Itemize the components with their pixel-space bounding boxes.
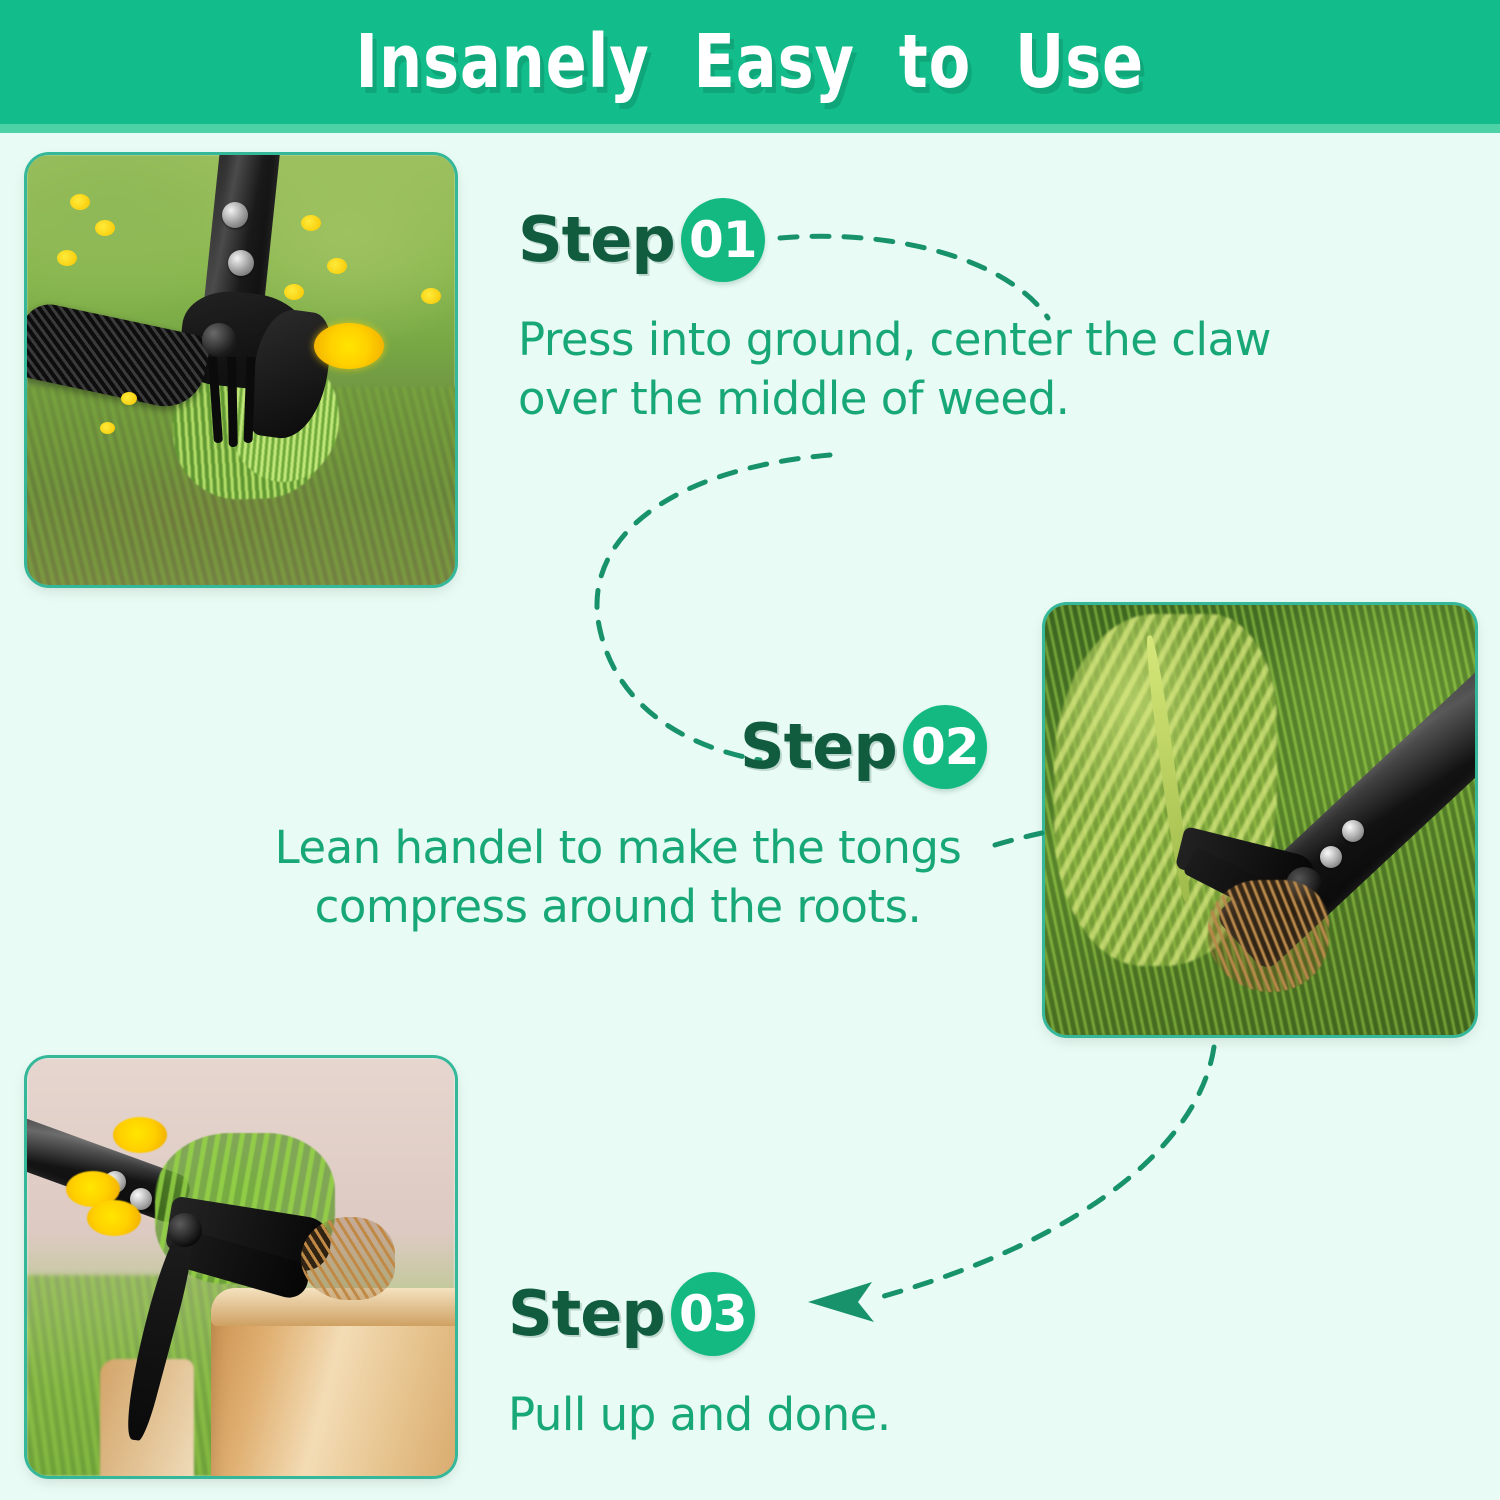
yellow-flower-icon xyxy=(70,194,90,210)
step-3-photo-scene xyxy=(27,1058,455,1476)
tool-pivot xyxy=(202,323,236,357)
dandelion-flower xyxy=(113,1117,167,1153)
bolt-icon xyxy=(228,250,254,276)
page-title: Insanely Easy to Use xyxy=(356,25,1144,99)
step-1-number-badge: 01 xyxy=(681,198,765,282)
step-3-heading: Step 03 xyxy=(508,1272,755,1356)
exposed-roots xyxy=(1208,880,1328,992)
step-2-description: Lean handel to make the tongs compress a… xyxy=(238,818,998,937)
connector-step2-inbound xyxy=(995,833,1042,845)
tool-pivot xyxy=(168,1213,202,1247)
header-underline-divider xyxy=(0,124,1500,133)
step-3-word: Step xyxy=(508,1283,665,1345)
exposed-roots xyxy=(301,1217,395,1301)
yellow-flower-icon xyxy=(327,258,347,274)
yellow-flower-icon xyxy=(95,220,115,236)
yellow-flower-icon xyxy=(57,250,77,266)
step-1-word: Step xyxy=(518,209,675,271)
step-2-word: Step xyxy=(740,716,897,778)
step-2-heading: Step 02 xyxy=(740,705,987,789)
step-3-description: Pull up and done. xyxy=(508,1385,1308,1444)
dandelion-flower xyxy=(314,323,384,369)
step-2-number-badge: 02 xyxy=(903,705,987,789)
step-3-number-badge: 03 xyxy=(671,1272,755,1356)
step-3-photo xyxy=(27,1058,455,1476)
connector-step2-to-step3 xyxy=(870,1047,1214,1300)
infographic-poster: Insanely Easy to Use xyxy=(0,0,1500,1500)
bolt-icon xyxy=(1320,846,1342,868)
yellow-flower-icon xyxy=(121,392,137,405)
yellow-flower-icon xyxy=(301,215,321,231)
yellow-flower-icon xyxy=(284,284,304,300)
connector-step1-outbound xyxy=(780,236,1048,318)
dandelion-flower xyxy=(87,1200,141,1236)
step-1-description: Press into ground, center the claw over … xyxy=(518,310,1418,429)
step-1-photo-scene xyxy=(27,155,455,585)
bolt-icon xyxy=(1342,820,1364,842)
step-2-photo-scene xyxy=(1045,605,1475,1035)
bolt-icon xyxy=(222,202,248,228)
step-1-heading: Step 01 xyxy=(518,198,765,282)
header-banner: Insanely Easy to Use xyxy=(0,0,1500,124)
step-2-photo xyxy=(1045,605,1475,1035)
arrowhead-icon xyxy=(808,1282,874,1322)
tool-tine xyxy=(227,357,238,447)
yellow-flower-icon xyxy=(421,288,441,304)
step-1-photo xyxy=(27,155,455,585)
yellow-flower-icon xyxy=(100,422,115,434)
